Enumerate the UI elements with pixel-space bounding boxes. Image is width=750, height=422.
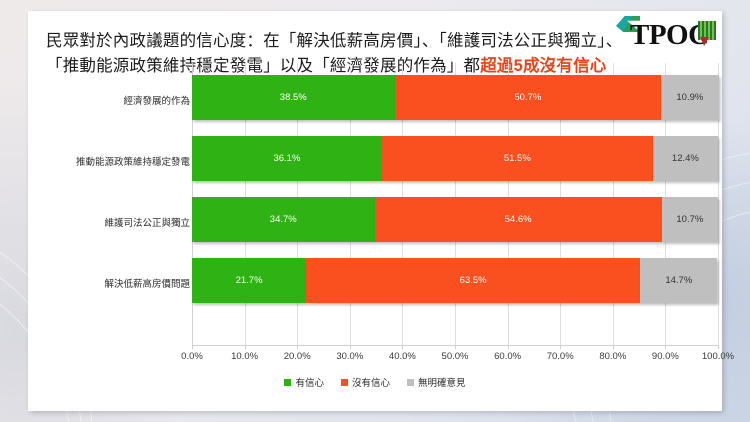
x-tick-label: 90.0% [635,351,695,362]
x-tick-label: 60.0% [478,351,538,362]
logo-text: TPOC [630,19,709,52]
stacked-bar-chart: 經濟發展的作為推動能源政策維持穩定發電維護司法公正與獨立解決低薪高房價問題 38… [28,63,722,411]
x-tick-mark [508,345,509,349]
bar-segment-no-opinion[interactable]: 12.4% [653,136,718,181]
legend-label: 有信心 [295,375,324,389]
x-axis-tick-labels: 0.0%10.0%20.0%30.0%40.0%50.0%60.0%70.0%8… [28,351,722,367]
x-tick-label: 80.0% [583,351,643,362]
x-tick-mark [402,345,403,349]
bar-row[interactable]: 36.1%51.5%12.4% [192,136,718,181]
x-tick-mark [665,345,666,349]
bar-segment-not-confident[interactable]: 50.7% [395,75,662,120]
x-tick-label: 50.0% [425,351,485,362]
legend-swatch [284,379,291,386]
legend-label: 沒有信心 [352,375,390,389]
bar-segment-no-opinion[interactable]: 10.9% [661,75,718,120]
bar-segment-not-confident[interactable]: 54.6% [375,197,662,242]
plot-area: 38.5%50.7%10.9%36.1%51.5%12.4%34.7%54.6%… [192,63,718,345]
category-axis: 經濟發展的作為推動能源政策維持穩定發電維護司法公正與獨立解決低薪高房價問題 [36,63,192,345]
x-tick-mark [192,345,193,349]
category-label: 推動能源政策維持穩定發電 [40,154,190,168]
bar-segment-confident[interactable]: 38.5% [192,75,395,120]
legend-item[interactable]: 沒有信心 [341,375,390,389]
bar-row[interactable]: 21.7%63.5%14.7% [192,258,718,303]
x-tick-mark [297,345,298,349]
bar-segment-confident[interactable]: 36.1% [192,136,382,181]
x-tick-label: 40.0% [372,351,432,362]
bar-segment-no-opinion[interactable]: 10.7% [662,197,718,242]
x-tick-mark [718,345,719,349]
category-label: 經濟發展的作為 [40,93,190,107]
bar-row[interactable]: 38.5%50.7%10.9% [192,75,718,120]
category-label: 維護司法公正與獨立 [40,215,190,229]
block-icon [698,21,716,40]
content-card: 民眾對於內政議題的信心度：在「解決低薪高房價」、「維護司法公正與獨立」、 「推動… [28,11,722,411]
x-tick-label: 10.0% [215,351,275,362]
bar-segment-confident[interactable]: 34.7% [192,197,375,242]
x-tick-label: 20.0% [267,351,327,362]
x-tick-mark [350,345,351,349]
legend-swatch [407,379,414,386]
x-tick-mark [613,345,614,349]
bar-row[interactable]: 34.7%54.6%10.7% [192,197,718,242]
x-tick-label: 70.0% [530,351,590,362]
legend-item[interactable]: 有信心 [284,375,324,389]
chart-legend: 有信心沒有信心無明確意見 [28,375,722,389]
bar-segment-not-confident[interactable]: 51.5% [382,136,653,181]
x-tick-label: 30.0% [320,351,380,362]
legend-label: 無明確意見 [418,375,466,389]
slide-canvas: 民眾對於內政議題的信心度：在「解決低薪高房價」、「維護司法公正與獨立」、 「推動… [0,0,750,422]
x-tick-mark [245,345,246,349]
title-line-1: 民眾對於內政議題的信心度：在「解決低薪高房價」、「維護司法公正與獨立」、 [46,29,706,54]
legend-item[interactable]: 無明確意見 [407,375,466,389]
x-tick-mark [455,345,456,349]
bar-segment-no-opinion[interactable]: 14.7% [640,258,717,303]
x-tick-label: 100.0% [688,351,748,362]
x-tick-label: 0.0% [162,351,222,362]
bar-segment-confident[interactable]: 21.7% [192,258,306,303]
legend-swatch [341,379,348,386]
x-tick-mark [560,345,561,349]
bar-segment-not-confident[interactable]: 63.5% [306,258,640,303]
tpoc-logo: TPOC [608,14,716,54]
category-label: 解決低薪高房價問題 [40,276,190,290]
